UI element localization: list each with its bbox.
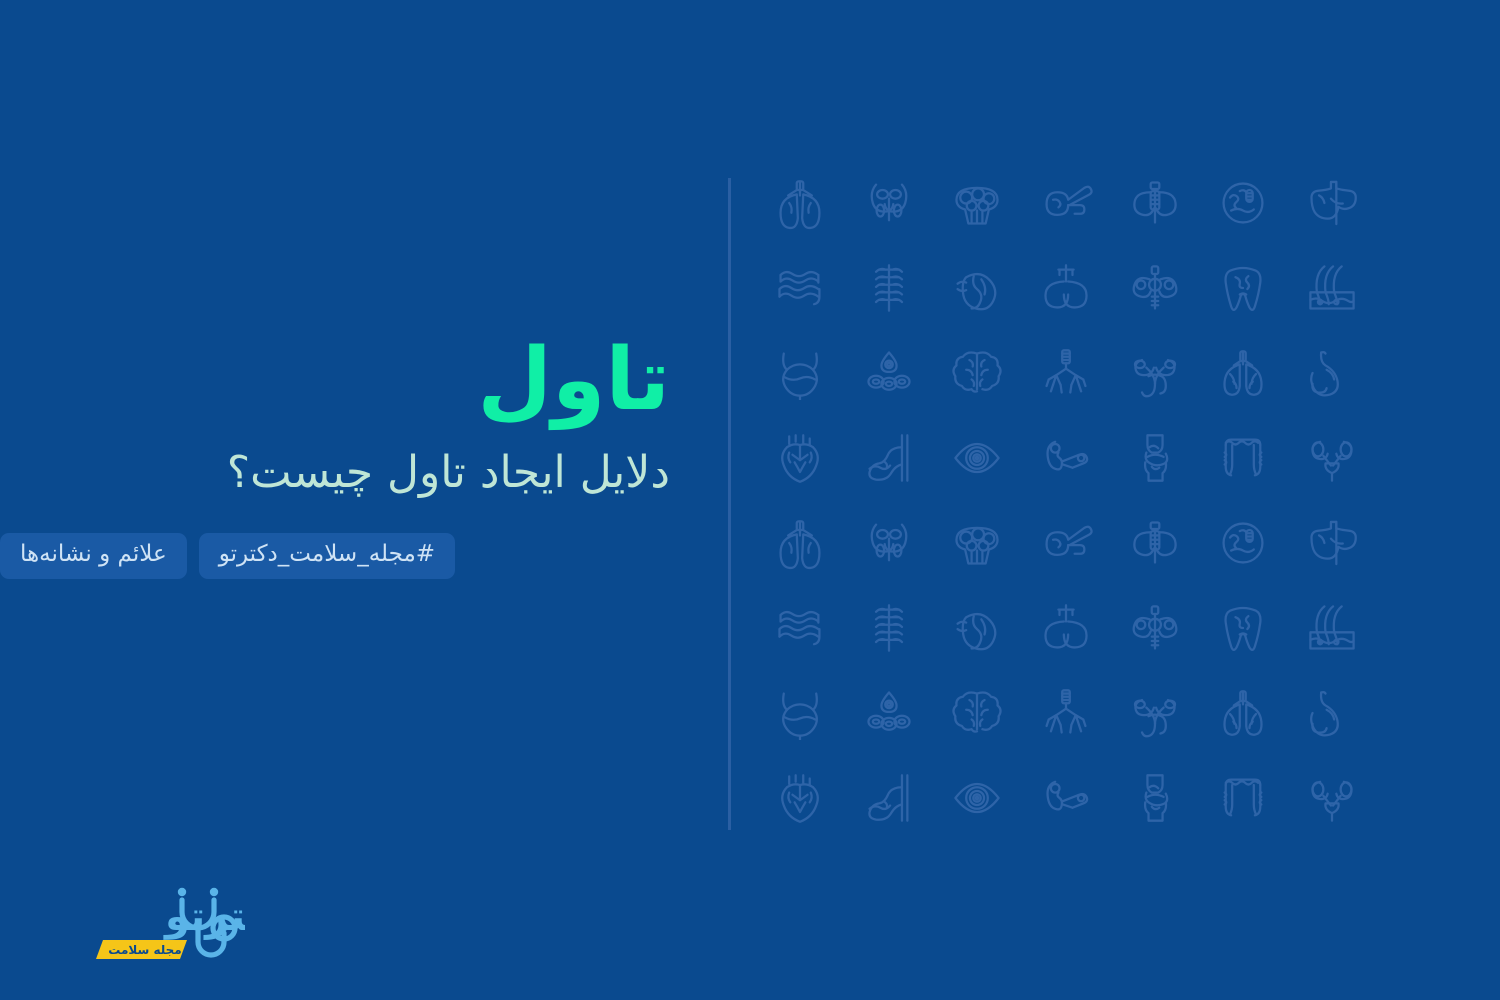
icon-cell: [845, 585, 934, 670]
liver-icon: [1305, 176, 1359, 230]
icon-cell: [756, 160, 845, 245]
brain-icon: [950, 346, 1004, 400]
icon-cell: [845, 500, 934, 585]
icon-cell: [845, 160, 934, 245]
heart-icon: [773, 431, 827, 485]
icon-cell: [1022, 330, 1111, 415]
icon-cell: [1110, 670, 1199, 755]
icon-cell: [1199, 755, 1288, 840]
prostate-icon: [862, 516, 916, 570]
bladder-icon: [773, 686, 827, 740]
icon-cell: [845, 415, 934, 500]
icon-cell: [1287, 670, 1376, 755]
lungs-icon: [773, 516, 827, 570]
icon-cell: [1287, 500, 1376, 585]
brand-tagline: مجله سلامت: [108, 943, 181, 957]
icon-cell: [756, 585, 845, 670]
icon-cell: [756, 245, 845, 330]
alveoli-icon: [950, 516, 1004, 570]
microbes-icon: [1216, 176, 1270, 230]
cover-canvas: تاول دلایل ایجاد تاول چیست؟ علائم و نشان…: [0, 0, 1500, 1000]
icon-cell: [933, 330, 1022, 415]
esophagus-icon: [862, 431, 916, 485]
headline-block: تاول دلایل ایجاد تاول چیست؟ علائم و نشان…: [0, 330, 684, 579]
icon-cell: [1022, 245, 1111, 330]
icon-cell: [1110, 415, 1199, 500]
icon-cell: [1110, 500, 1199, 585]
icon-cell: [1110, 330, 1199, 415]
blood-cells-icon: [862, 346, 916, 400]
brain-icon: [950, 686, 1004, 740]
uterus-icon: [1128, 686, 1182, 740]
tooth-icon: [1216, 261, 1270, 315]
medical-icon-pattern: [756, 160, 1376, 840]
icon-cell: [1022, 160, 1111, 245]
icon-cell: [1199, 585, 1288, 670]
stomach-nerve-icon: [950, 261, 1004, 315]
icon-cell: [845, 330, 934, 415]
bronchi-icon: [1039, 686, 1093, 740]
stomach-icon: [1305, 346, 1359, 400]
icon-cell: [845, 670, 934, 755]
heart-icon: [773, 771, 827, 825]
icon-cell: [1022, 585, 1111, 670]
icon-cell: [1287, 415, 1376, 500]
icon-cell: [1199, 330, 1288, 415]
intestine-icon: [773, 601, 827, 655]
bladder-icon: [773, 346, 827, 400]
brand-wordmark: دکترتو: [163, 894, 245, 940]
pancreas-icon: [1039, 516, 1093, 570]
icon-cell: [1110, 755, 1199, 840]
testicles-icon: [1039, 601, 1093, 655]
uterus-icon: [1128, 346, 1182, 400]
icon-cell: [1287, 755, 1376, 840]
eye-icon: [950, 431, 1004, 485]
tag-category[interactable]: علائم و نشانه‌ها: [0, 533, 187, 579]
lung-pair-icon: [1216, 686, 1270, 740]
icon-cell: [933, 670, 1022, 755]
icon-cell: [1199, 670, 1288, 755]
hair-follicle-icon: [1305, 601, 1359, 655]
icon-cell: [845, 245, 934, 330]
icon-cell: [1287, 585, 1376, 670]
icon-cell: [1287, 160, 1376, 245]
icon-cell: [933, 245, 1022, 330]
blood-cells-icon: [862, 686, 916, 740]
vertical-divider: [728, 178, 731, 830]
icon-cell: [756, 330, 845, 415]
icon-cell: [933, 585, 1022, 670]
page-title: تاول: [0, 330, 670, 431]
icon-cell: [933, 500, 1022, 585]
esophagus-icon: [862, 771, 916, 825]
icon-cell: [1199, 500, 1288, 585]
urinary-icon: [1305, 431, 1359, 485]
icon-cell: [756, 670, 845, 755]
icon-cell: [1199, 160, 1288, 245]
ear-icon: [1039, 771, 1093, 825]
page-subtitle: دلایل ایجاد تاول چیست؟: [0, 443, 670, 502]
tag-row: علائم و نشانه‌ها #مجله_سلامت_دکترتو: [0, 533, 670, 579]
pancreas-icon: [1039, 176, 1093, 230]
stomach-icon: [1305, 686, 1359, 740]
icon-cell: [1022, 670, 1111, 755]
icon-cell: [1022, 415, 1111, 500]
icon-cell: [1287, 245, 1376, 330]
urinary-icon: [1305, 771, 1359, 825]
kidney-nerve-icon: [1128, 261, 1182, 315]
icon-cell: [1022, 500, 1111, 585]
icon-cell: [1110, 585, 1199, 670]
spine-icon: [862, 601, 916, 655]
spine-icon: [862, 261, 916, 315]
knee-joint-icon: [1128, 431, 1182, 485]
eye-icon: [950, 771, 1004, 825]
brand-logo[interactable]: دکترتو مجله سلامت: [45, 880, 245, 968]
icon-cell: [1287, 330, 1376, 415]
testicles-icon: [1039, 261, 1093, 315]
icon-cell: [756, 500, 845, 585]
tag-hashtag[interactable]: #مجله_سلامت_دکترتو: [199, 533, 455, 579]
icon-cell: [1199, 415, 1288, 500]
tooth-icon: [1216, 601, 1270, 655]
hair-follicle-icon: [1305, 261, 1359, 315]
icon-cell: [845, 755, 934, 840]
alveoli-icon: [950, 176, 1004, 230]
stomach-nerve-icon: [950, 601, 1004, 655]
icon-cell: [756, 415, 845, 500]
microbes-icon: [1216, 516, 1270, 570]
prostate-icon: [862, 176, 916, 230]
bronchi-icon: [1039, 346, 1093, 400]
lungs-icon: [773, 176, 827, 230]
icon-cell: [933, 160, 1022, 245]
icon-cell: [1022, 755, 1111, 840]
ear-icon: [1039, 431, 1093, 485]
icon-cell: [933, 755, 1022, 840]
icon-cell: [1110, 245, 1199, 330]
lung-pair-icon: [1216, 346, 1270, 400]
knee-joint-icon: [1128, 771, 1182, 825]
icon-cell: [933, 415, 1022, 500]
icon-cell: [756, 755, 845, 840]
icon-cell: [1199, 245, 1288, 330]
intestine-icon: [773, 261, 827, 315]
liver-icon: [1305, 516, 1359, 570]
pelvis-icon: [1128, 176, 1182, 230]
pelvis-icon: [1128, 516, 1182, 570]
icon-cell: [1110, 160, 1199, 245]
kidney-nerve-icon: [1128, 601, 1182, 655]
colon-icon: [1216, 771, 1270, 825]
colon-icon: [1216, 431, 1270, 485]
